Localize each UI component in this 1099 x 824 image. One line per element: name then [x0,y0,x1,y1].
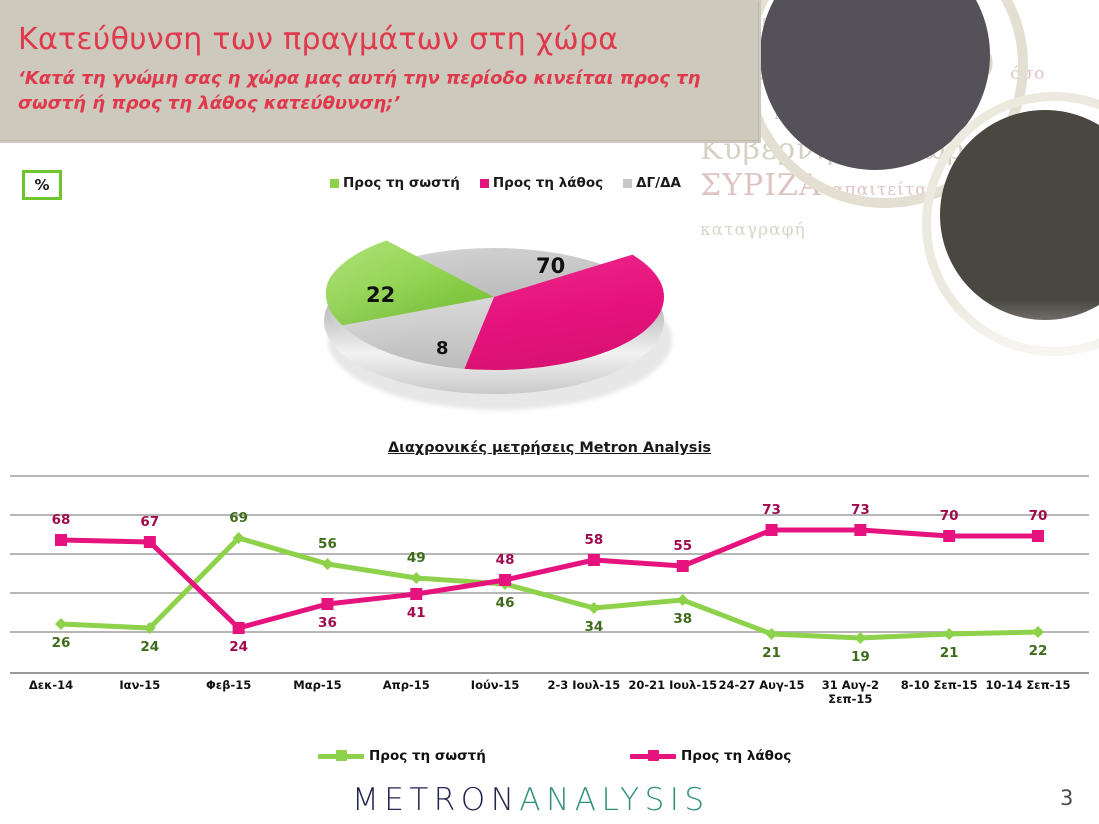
data-point [55,534,67,546]
series-line-correct [61,538,1038,638]
legend-swatch-magenta [480,179,489,188]
legend-label: Προς τη σωστή [369,748,486,764]
x-axis-label: Ιούν-15 [444,678,547,692]
data-label: 22 [1029,643,1048,659]
legend-item-wrong: Προς τη λάθος [630,748,791,764]
line-series-svg [10,470,1089,675]
data-label: 56 [318,536,337,552]
logo-analysis: ANALYSIS [519,782,709,818]
data-label: 26 [52,635,71,651]
data-label: 41 [407,605,426,621]
data-point [410,588,422,600]
data-point [55,618,67,630]
data-label: 58 [585,532,604,548]
data-point [677,560,689,572]
x-axis-label: Ιαν-15 [88,678,191,692]
page-number: 3 [1060,786,1073,810]
x-axis-labels: Δεκ-14Ιαν-15Φεβ-15Μαρ-15Απρ-15Ιούν-152-3… [10,678,1089,718]
legend-line-magenta [630,754,676,759]
data-label: 38 [673,611,692,627]
data-point [1032,530,1044,542]
data-label: 46 [496,595,515,611]
data-label: 21 [940,645,959,661]
data-point [943,628,955,640]
data-point [766,524,778,536]
data-point [854,632,866,644]
watermark-word: μεταβολή [1001,180,1091,200]
watermark-word: καταγραφή [700,220,806,240]
data-label: 70 [940,508,959,524]
data-point [233,622,245,634]
data-label: 34 [585,619,604,635]
legend-swatch-grey [623,179,632,188]
pie-value-wrong: 70 [536,254,565,278]
line-chart-title: Διαχρονικές μετρήσεις Metron Analysis [0,440,1099,456]
pie-legend-label: Προς τη σωστή [343,175,460,191]
data-point [588,602,600,614]
watermark-word: απαιτείται [832,180,935,200]
data-point [321,598,333,610]
legend-label: Προς τη λάθος [681,748,791,764]
data-label: 73 [851,502,870,518]
watermark-word: κινείται [892,104,971,124]
data-point [588,554,600,566]
data-label: 73 [762,502,781,518]
data-point [854,524,866,536]
x-axis-label: 8-10 Σεπ-15 [888,678,991,692]
data-label: 24 [140,639,159,655]
logo-metron: METRON [352,782,519,818]
data-point [1032,626,1044,638]
data-label: 24 [229,639,248,655]
legend-item-correct: Προς τη σωστή [318,748,486,764]
pie-chart: 70 22 8 [318,218,682,418]
units-badge: % [22,170,62,200]
x-axis-label: Δεκ-14 [0,678,102,692]
series-line-wrong [61,530,1038,628]
series-markers-correct [55,532,1044,644]
data-point [499,574,511,586]
legend-swatch-green [330,179,339,188]
pie-value-correct: 22 [366,283,395,307]
x-axis-label: 2-3 Ιουλ-15 [533,678,636,692]
data-label: 49 [407,550,426,566]
x-axis-label: Φεβ-15 [177,678,280,692]
data-point [410,572,422,584]
data-label: 69 [229,510,248,526]
pie-legend-item-correct: Προς τη σωστή [330,175,460,191]
pie-legend-item-wrong: Προς τη λάθος [480,175,603,191]
x-axis-label: 31 Αυγ-2 Σεπ-15 [799,678,902,706]
x-axis-label: 20-21 Ιουλ-15 [621,678,724,692]
metron-analysis-logo: METRONANALYSIS [352,782,710,818]
slide: έχουν περιοριστεί ποσοστό όσο σαφώς παρά… [0,0,1099,824]
x-axis-label: Απρ-15 [355,678,458,692]
watermark-word: θεωρούν [885,132,1022,167]
pie-legend-label: ΔΓ/ΔΑ [636,175,681,191]
legend-line-green [318,754,364,759]
page-subtitle: ‘Κατά τη γνώμη σας η χώρα μας αυτή την π… [18,66,748,116]
series-markers-wrong [55,524,1044,634]
data-label: 55 [673,538,692,554]
data-point [144,536,156,548]
watermark-word: όσο [1010,64,1045,84]
data-label: 19 [851,649,870,665]
data-label: 68 [52,512,71,528]
page-title: Κατεύθυνση των πραγμάτων στη χώρα [18,22,738,57]
x-axis-line [10,672,1089,674]
watermark-word: πάλι [946,180,990,200]
data-label: 67 [140,514,159,530]
pie-legend-item-dk: ΔΓ/ΔΑ [623,175,681,191]
x-axis-label: 10-14 Σεπ-15 [977,678,1080,692]
data-point [943,530,955,542]
data-label: 70 [1029,508,1048,524]
line-chart: 2624695649463438211921226867243641485855… [10,470,1089,675]
data-label: 21 [762,645,781,661]
data-point [321,558,333,570]
data-label: 36 [318,615,337,631]
data-label: 48 [496,552,515,568]
x-axis-label: Μαρ-15 [266,678,369,692]
watermark-word: παράσταση [774,104,881,124]
pie-legend: Προς τη σωστή Προς τη λάθος ΔΓ/ΔΑ [330,172,730,194]
x-axis-label: 24-27 Αυγ-15 [710,678,813,692]
pie-value-dk: 8 [436,338,449,359]
pie-legend-label: Προς τη λάθος [493,175,603,191]
line-chart-legend: Προς τη σωστή Προς τη λάθος [0,748,1099,772]
